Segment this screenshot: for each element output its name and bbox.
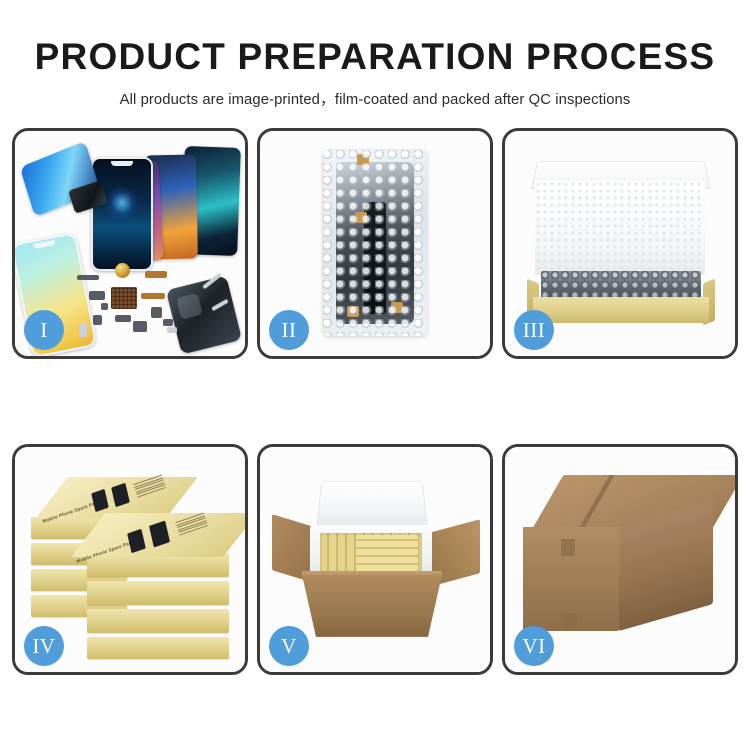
page-title: PRODUCT PREPARATION PROCESS — [0, 38, 750, 77]
component-battery-icon — [79, 323, 87, 337]
component-logic-board-icon — [111, 287, 137, 309]
component-connector-icon — [89, 291, 105, 300]
phone-screen-dark-blue-icon — [91, 157, 153, 271]
step-badge-3: III — [514, 310, 554, 350]
component-screw-set-icon — [167, 327, 177, 333]
step-badge-6: VI — [514, 626, 554, 666]
step-panel-2[interactable]: II — [257, 128, 493, 359]
step-panel-1[interactable]: I — [12, 128, 248, 359]
box-stack-icon: Mobile Phone Spare Parts Mobile Phone Sp… — [31, 465, 231, 661]
component-gold-ring-icon — [115, 263, 130, 278]
tape-top-icon — [357, 154, 369, 165]
stacked-box — [87, 637, 229, 659]
tape-bottom-left-icon — [347, 306, 359, 317]
header: PRODUCT PREPARATION PROCESS All products… — [0, 0, 750, 109]
step-panel-6[interactable]: VI — [502, 444, 738, 675]
tape-mid-icon — [355, 212, 367, 223]
component-bar-icon — [77, 275, 99, 280]
carton-tape-bottom-icon — [563, 613, 577, 630]
bubble-wrap-bag-icon — [323, 150, 427, 336]
step-panel-4[interactable]: Mobile Phone Spare Parts Mobile Phone Sp… — [12, 444, 248, 675]
component-sim-tray-icon — [163, 319, 173, 326]
stacked-box — [87, 581, 229, 605]
component-flex-cable-2-icon — [141, 293, 165, 299]
step-badge-2: II — [269, 310, 309, 350]
carton-front-icon — [302, 575, 442, 637]
styrofoam-lid-icon — [316, 481, 428, 531]
component-speaker-icon — [133, 321, 147, 332]
screen-flex-strip-icon — [364, 202, 386, 314]
component-chip-icon — [115, 315, 131, 322]
component-flex-cable-icon — [145, 271, 167, 278]
process-step-grid: I II III — [12, 128, 738, 675]
step-badge-5: V — [269, 626, 309, 666]
component-misc-icon — [101, 303, 108, 310]
step-badge-1: I — [24, 310, 64, 350]
component-camera-icon — [151, 307, 162, 318]
inner-box-front-icon — [533, 297, 709, 323]
step-badge-4: IV — [24, 626, 64, 666]
component-bracket-icon — [93, 315, 102, 325]
inner-yellow-boxes-2-icon — [356, 535, 418, 571]
foam-liner-icon — [535, 181, 705, 275]
step-panel-3[interactable]: III — [502, 128, 738, 359]
tape-bottom-right-icon — [391, 302, 403, 313]
page-subtitle: All products are image-printed，film-coat… — [0, 88, 750, 109]
step-panel-5[interactable]: V — [257, 444, 493, 675]
carton-tape-top-icon — [561, 539, 575, 556]
stacked-box — [87, 609, 229, 633]
